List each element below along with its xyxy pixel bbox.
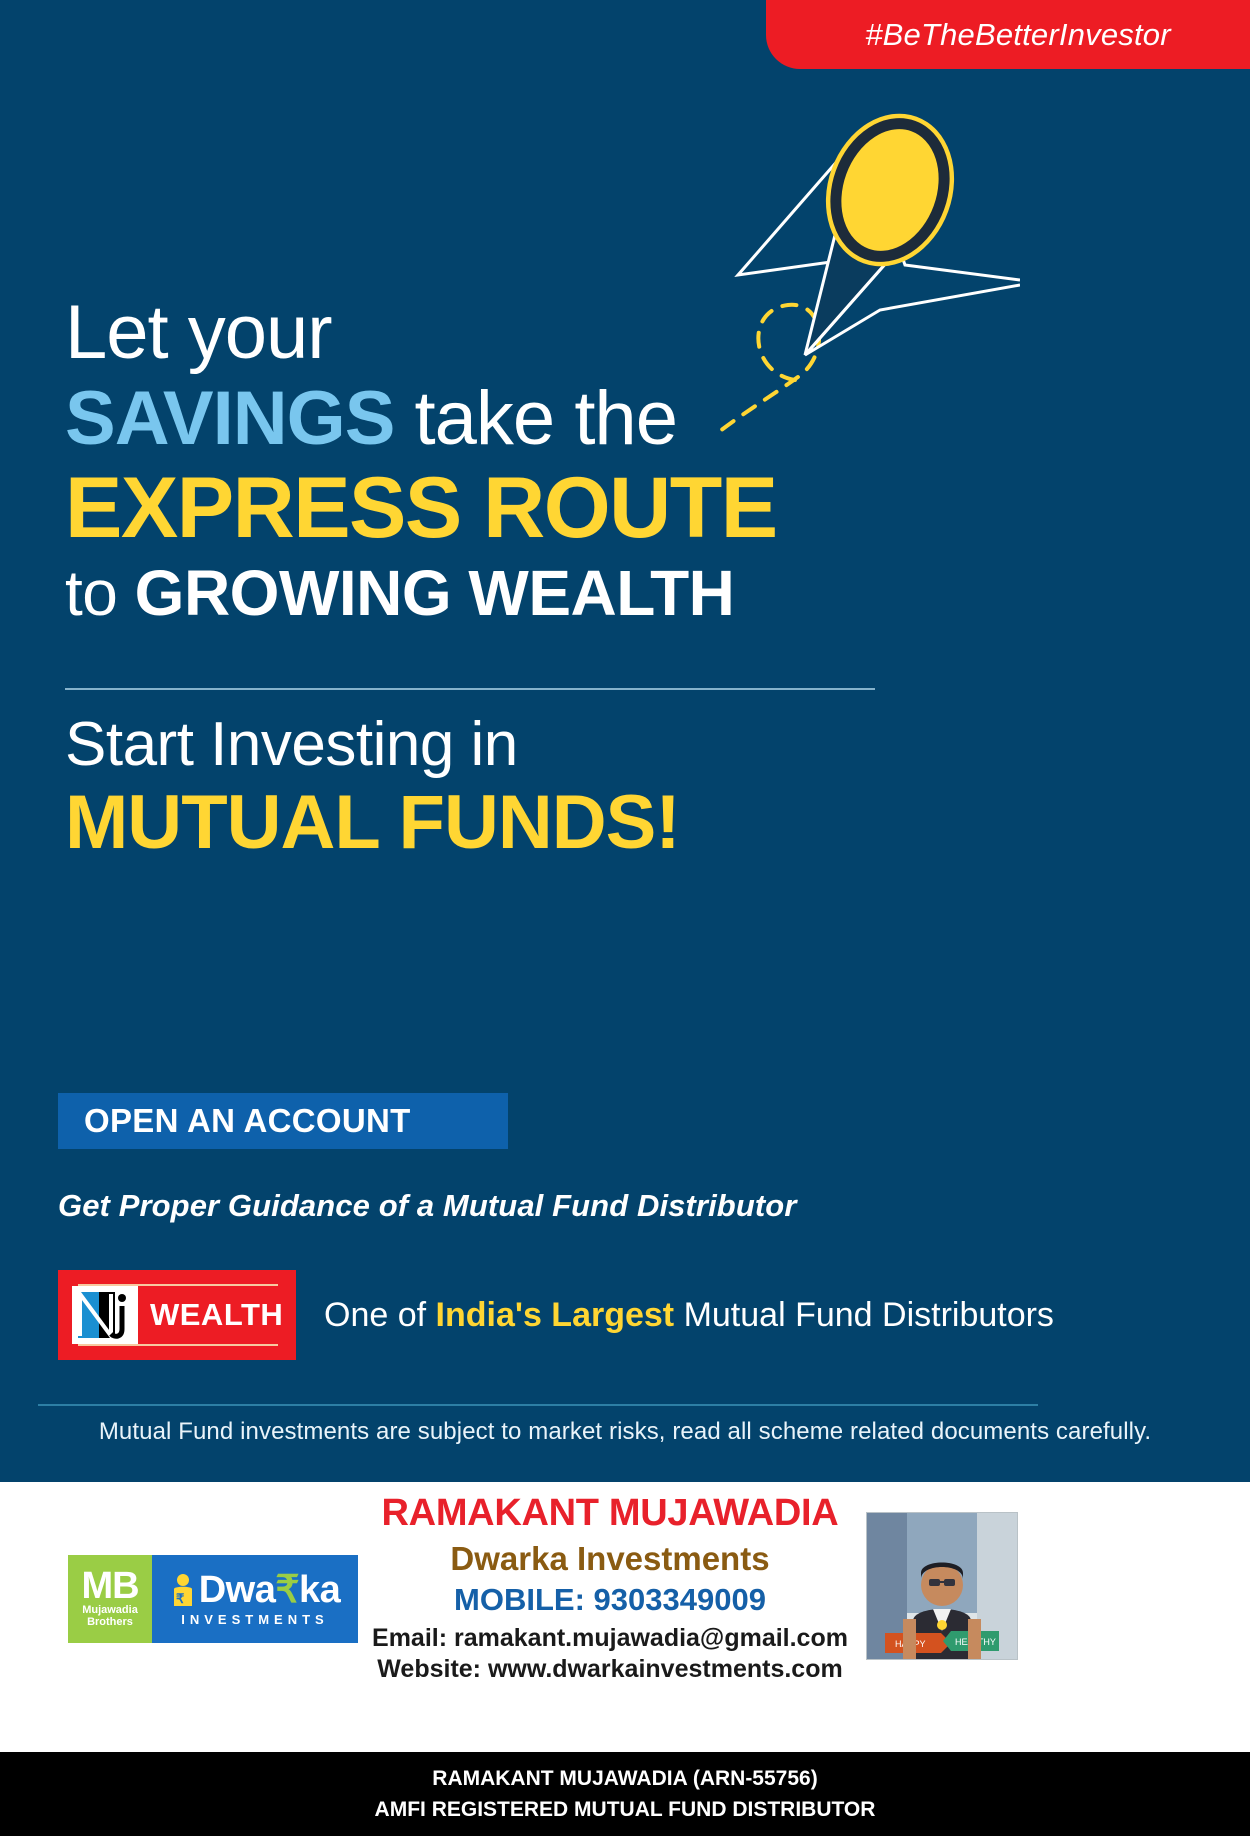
subhead-line-2: MUTUAL FUNDS!	[65, 783, 965, 863]
mb-initials: MB	[81, 1570, 138, 1602]
open-account-label: OPEN AN ACCOUNT	[58, 1102, 411, 1140]
nj-monogram-icon	[72, 1286, 138, 1344]
contact-block: RAMAKANT MUJAWADIA Dwarka Investments MO…	[330, 1492, 890, 1684]
headline-express-route: EXPRESS ROUTE	[65, 465, 1025, 551]
contact-email[interactable]: Email: ramakant.mujawadia@gmail.com	[330, 1624, 890, 1653]
subhead-line-1: Start Investing in	[65, 712, 965, 777]
dwarka-person-icon: ₹	[170, 1573, 196, 1607]
dwarka-word-pre: Dwa	[199, 1571, 276, 1609]
nj-desc-pre: One of	[324, 1296, 436, 1334]
arn-line-2: AMFI REGISTERED MUTUAL FUND DISTRIBUTOR	[375, 1794, 876, 1826]
nj-desc-highlight: India's Largest	[436, 1296, 675, 1334]
dwarka-investments-subtitle: INVESTMENTS	[181, 1612, 328, 1627]
nj-wealth-row: WEALTH One of India's Largest Mutual Fun…	[58, 1270, 1054, 1360]
nj-wealth-wordmark: WEALTH	[150, 1297, 283, 1333]
headline-savings-word: SAVINGS	[65, 376, 394, 461]
risk-disclaimer: Mutual Fund investments are subject to m…	[0, 1418, 1250, 1446]
mb-sub-line1: Mujawadia	[82, 1604, 138, 1616]
mb-subtitle: Mujawadia Brothers	[82, 1605, 138, 1628]
contact-name: RAMAKANT MUJAWADIA	[330, 1492, 890, 1535]
headline-divider	[65, 688, 875, 690]
open-account-button[interactable]: OPEN AN ACCOUNT	[58, 1093, 508, 1149]
contact-firm: Dwarka Investments	[330, 1540, 890, 1578]
nj-desc-post: Mutual Fund Distributors	[674, 1296, 1054, 1334]
headline-line-1: Let your	[65, 295, 1025, 371]
arn-line-1: RAMAKANT MUJAWADIA (ARN-55756)	[432, 1763, 817, 1795]
disclaimer-divider	[38, 1404, 1038, 1406]
nj-wealth-logo: WEALTH	[58, 1270, 296, 1360]
hashtag-ribbon: #BeTheBetterInvestor	[766, 0, 1250, 69]
mujawadia-brothers-badge: MB Mujawadia Brothers	[68, 1555, 152, 1643]
svg-text:₹: ₹	[176, 1591, 185, 1606]
headline-block: Let your SAVINGS take the EXPRESS ROUTE …	[65, 295, 1025, 625]
contact-website[interactable]: Website: www.dwarkainvestments.com	[330, 1655, 890, 1684]
cta-subtitle: Get Proper Guidance of a Mutual Fund Dis…	[58, 1188, 797, 1224]
nj-monogram-svg	[75, 1289, 135, 1341]
dwarka-investments-badge: ₹ Dwa₹ka INVESTMENTS	[152, 1555, 358, 1643]
poster-root: #BeTheBetterInvestor Let your SAVINGS ta…	[0, 0, 1250, 1836]
headline-growing-wealth: GROWING WEALTH	[135, 557, 735, 629]
distributor-photo: HAPPY HEALTHY	[866, 1512, 1018, 1660]
distributor-photo-svg: HAPPY HEALTHY	[867, 1513, 1017, 1659]
contact-mobile[interactable]: MOBILE: 9303349009	[330, 1582, 890, 1618]
headline-to-word: to	[65, 557, 135, 629]
nj-description: One of India's Largest Mutual Fund Distr…	[324, 1296, 1054, 1335]
subhead-block: Start Investing in MUTUAL FUNDS!	[65, 712, 965, 863]
dwarka-rupee-glyph: ₹	[275, 1571, 299, 1609]
dwarka-wordmark: ₹ Dwa₹ka	[170, 1571, 341, 1609]
hashtag-text: #BeTheBetterInvestor	[845, 17, 1171, 53]
arn-bottom-bar: RAMAKANT MUJAWADIA (ARN-55756) AMFI REGI…	[0, 1752, 1250, 1836]
mb-sub-line2: Brothers	[87, 1616, 133, 1628]
headline-line-4: to GROWING WEALTH	[65, 561, 1025, 625]
mujawadia-dwarka-logo: MB Mujawadia Brothers ₹ Dwa₹ka INVESTMEN…	[68, 1555, 358, 1643]
headline-line-2: SAVINGS take the	[65, 381, 1025, 457]
headline-take-the: take the	[394, 376, 677, 461]
